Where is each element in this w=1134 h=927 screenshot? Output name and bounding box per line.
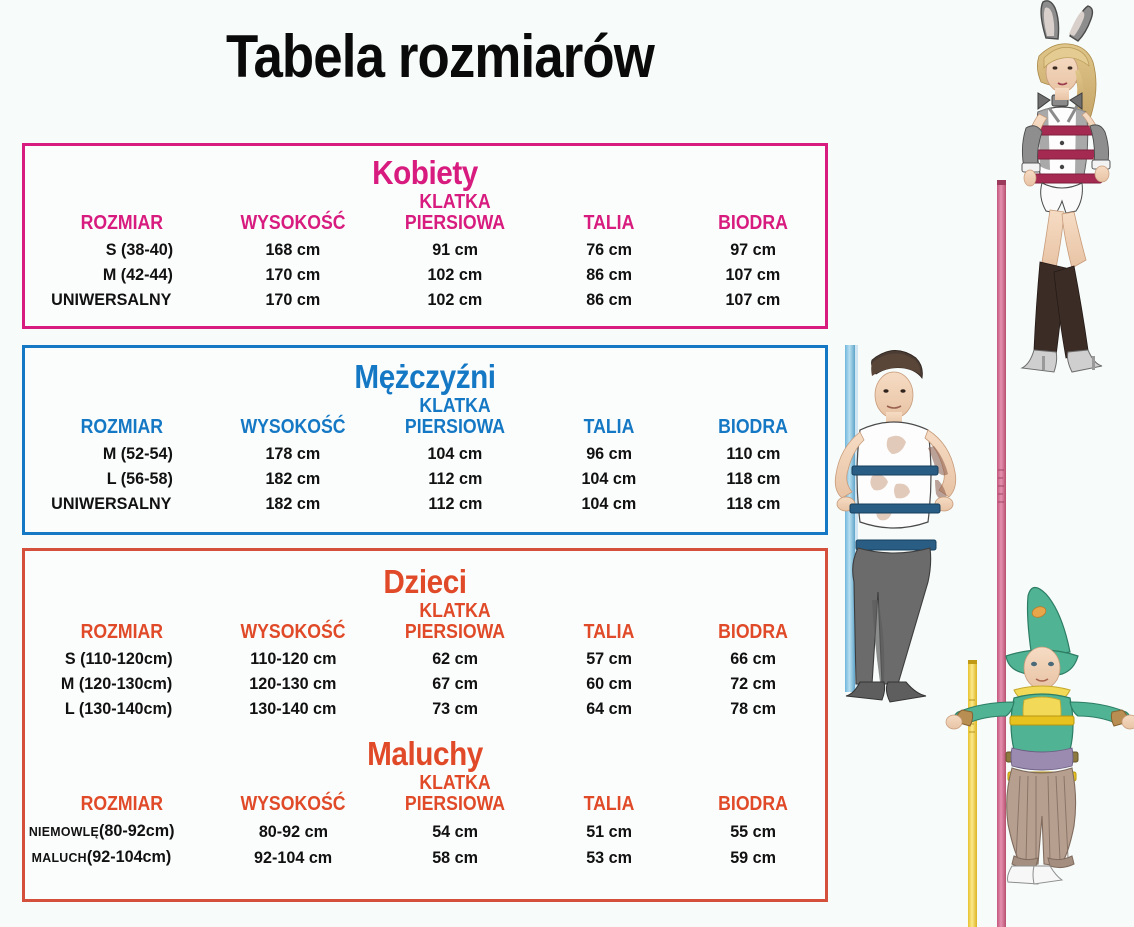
table-row: S (38-40) 168 cm 91 cm 76 cm 97 cm <box>25 237 825 262</box>
column-header-size: ROZMIAR <box>30 396 209 441</box>
cell-size: UNIWERSALNY <box>25 287 213 312</box>
cell-height: 182 cm <box>213 491 373 516</box>
cell-hips: 118 cm <box>681 491 825 516</box>
cell-size-word: MALUCH <box>32 850 87 865</box>
cell-chest: 104 cm <box>373 441 537 466</box>
table-women: ROZMIAR WYSOKOŚĆ KLATKA PIERSIOWA TALIA … <box>25 192 825 312</box>
column-header-chest: KLATKA PIERSIOWA <box>377 192 533 237</box>
cell-waist: 60 cm <box>537 671 681 696</box>
column-header-waist: TALIA <box>541 396 678 441</box>
cell-waist: 86 cm <box>537 287 681 312</box>
section-title-men: Mężczyźni <box>65 358 785 396</box>
cell-hips: 110 cm <box>681 441 825 466</box>
column-header-size: ROZMIAR <box>30 192 209 237</box>
column-header-height: WYSOKOŚĆ <box>217 601 369 646</box>
yellow-measuring-ruler <box>968 660 977 927</box>
cell-height: 170 cm <box>213 262 373 287</box>
cell-size-range: (92-104cm) <box>87 847 171 866</box>
size-table-men: Mężczyźni ROZMIAR WYSOKOŚĆ KLATKA PIERSI… <box>22 345 828 535</box>
column-header-chest: KLATKA PIERSIOWA <box>377 601 533 646</box>
cell-hips: 118 cm <box>681 466 825 491</box>
table-row: L (130-140cm) 130-140 cm 73 cm 64 cm 78 … <box>25 696 825 721</box>
table-row: NIEMOWLĘ(80-92cm) 80-92 cm 54 cm 51 cm 5… <box>25 818 825 844</box>
cell-chest: 102 cm <box>373 262 537 287</box>
cell-size-range: (80-92cm) <box>99 821 174 840</box>
cell-size: S (38-40) <box>25 237 213 262</box>
column-header-waist: TALIA <box>541 601 678 646</box>
cell-size: NIEMOWLĘ(80-92cm) <box>25 818 213 844</box>
size-table-kids: Dzieci ROZMIAR WYSOKOŚĆ KLATKA PIERSIOWA… <box>22 548 828 902</box>
table-kids: ROZMIAR WYSOKOŚĆ KLATKA PIERSIOWA TALIA … <box>25 601 825 721</box>
table-men: ROZMIAR WYSOKOŚĆ KLATKA PIERSIOWA TALIA … <box>25 396 825 516</box>
column-header-height: WYSOKOŚĆ <box>217 396 369 441</box>
section-title-toddlers: Maluchy <box>65 735 785 773</box>
cell-waist: 86 cm <box>537 262 681 287</box>
bunny-costume-woman <box>1022 1 1110 372</box>
cell-waist: 57 cm <box>537 646 681 671</box>
cell-height: 110-120 cm <box>213 646 373 671</box>
cell-chest: 91 cm <box>373 237 537 262</box>
table-header-men: ROZMIAR WYSOKOŚĆ KLATKA PIERSIOWA TALIA … <box>25 396 825 441</box>
section-title-kids: Dzieci <box>65 563 785 601</box>
cell-chest: 62 cm <box>373 646 537 671</box>
column-header-hips: BIODRA <box>685 773 822 818</box>
cell-chest: 102 cm <box>373 287 537 312</box>
table-header-toddlers: ROZMIAR WYSOKOŚĆ KLATKA PIERSIOWA TALIA … <box>25 773 825 818</box>
cell-chest: 54 cm <box>373 818 537 844</box>
column-header-height: WYSOKOŚĆ <box>217 773 369 818</box>
table-row: M (42-44) 170 cm 102 cm 86 cm 107 cm <box>25 262 825 287</box>
table-row: MALUCH(92-104cm) 92-104 cm 58 cm 53 cm 5… <box>25 844 825 870</box>
cell-waist: 104 cm <box>537 491 681 516</box>
table-header-women: ROZMIAR WYSOKOŚĆ KLATKA PIERSIOWA TALIA … <box>25 192 825 237</box>
cell-hips: 107 cm <box>681 262 825 287</box>
cell-size: L (56-58) <box>25 466 213 491</box>
size-table-women: Kobiety ROZMIAR WYSOKOŚĆ KLATKA PIERSIOW… <box>22 143 828 329</box>
cell-height: 182 cm <box>213 466 373 491</box>
table-header-kids: ROZMIAR WYSOKOŚĆ KLATKA PIERSIOWA TALIA … <box>25 601 825 646</box>
cell-hips: 78 cm <box>681 696 825 721</box>
cell-height: 120-130 cm <box>213 671 373 696</box>
cell-height: 170 cm <box>213 287 373 312</box>
column-header-hips: BIODRA <box>685 396 822 441</box>
table-row: S (110-120cm) 110-120 cm 62 cm 57 cm 66 … <box>25 646 825 671</box>
cell-size-word: NIEMOWLĘ <box>29 824 99 839</box>
cell-size: MALUCH(92-104cm) <box>25 844 213 870</box>
cell-hips: 55 cm <box>681 818 825 844</box>
cell-size: M (120-130cm) <box>25 671 213 696</box>
table-row: M (52-54) 178 cm 104 cm 96 cm 110 cm <box>25 441 825 466</box>
column-header-waist: TALIA <box>541 192 678 237</box>
cell-hips: 72 cm <box>681 671 825 696</box>
measurement-bands-woman <box>1032 126 1102 183</box>
table-row: UNIWERSALNY 170 cm 102 cm 86 cm 107 cm <box>25 287 825 312</box>
table-toddlers: ROZMIAR WYSOKOŚĆ KLATKA PIERSIOWA TALIA … <box>25 773 825 870</box>
column-header-chest: KLATKA PIERSIOWA <box>377 396 533 441</box>
cell-size: M (42-44) <box>25 262 213 287</box>
cell-height: 80-92 cm <box>213 818 373 844</box>
cell-height: 178 cm <box>213 441 373 466</box>
cell-waist: 76 cm <box>537 237 681 262</box>
column-header-hips: BIODRA <box>685 192 822 237</box>
cell-height: 130-140 cm <box>213 696 373 721</box>
cell-height: 92-104 cm <box>213 844 373 870</box>
cell-waist: 96 cm <box>537 441 681 466</box>
page-title: Tabela rozmiarów <box>53 24 827 90</box>
section-title-women: Kobiety <box>65 154 785 192</box>
cell-size: UNIWERSALNY <box>25 491 213 516</box>
column-header-hips: BIODRA <box>685 601 822 646</box>
table-row: UNIWERSALNY 182 cm 112 cm 104 cm 118 cm <box>25 491 825 516</box>
cell-waist: 51 cm <box>537 818 681 844</box>
cell-waist: 104 cm <box>537 466 681 491</box>
illustration-panel <box>834 0 1134 927</box>
column-header-chest: KLATKA PIERSIOWA <box>377 773 533 818</box>
cell-size: L (130-140cm) <box>25 696 213 721</box>
cell-hips: 66 cm <box>681 646 825 671</box>
pink-measuring-ruler <box>997 180 1006 927</box>
cell-waist: 64 cm <box>537 696 681 721</box>
column-header-height: WYSOKOŚĆ <box>217 192 369 237</box>
cell-hips: 97 cm <box>681 237 825 262</box>
cell-chest: 73 cm <box>373 696 537 721</box>
column-header-waist: TALIA <box>541 773 678 818</box>
cell-hips: 59 cm <box>681 844 825 870</box>
table-row: L (56-58) 182 cm 112 cm 104 cm 118 cm <box>25 466 825 491</box>
cell-hips: 107 cm <box>681 287 825 312</box>
cell-chest: 67 cm <box>373 671 537 696</box>
cell-size: S (110-120cm) <box>25 646 213 671</box>
cell-size: M (52-54) <box>25 441 213 466</box>
table-row: M (120-130cm) 120-130 cm 67 cm 60 cm 72 … <box>25 671 825 696</box>
cell-chest: 112 cm <box>373 491 537 516</box>
column-header-size: ROZMIAR <box>30 773 209 818</box>
cell-height: 168 cm <box>213 237 373 262</box>
cell-waist: 53 cm <box>537 844 681 870</box>
cell-chest: 112 cm <box>373 466 537 491</box>
column-header-size: ROZMIAR <box>30 601 209 646</box>
cell-chest: 58 cm <box>373 844 537 870</box>
